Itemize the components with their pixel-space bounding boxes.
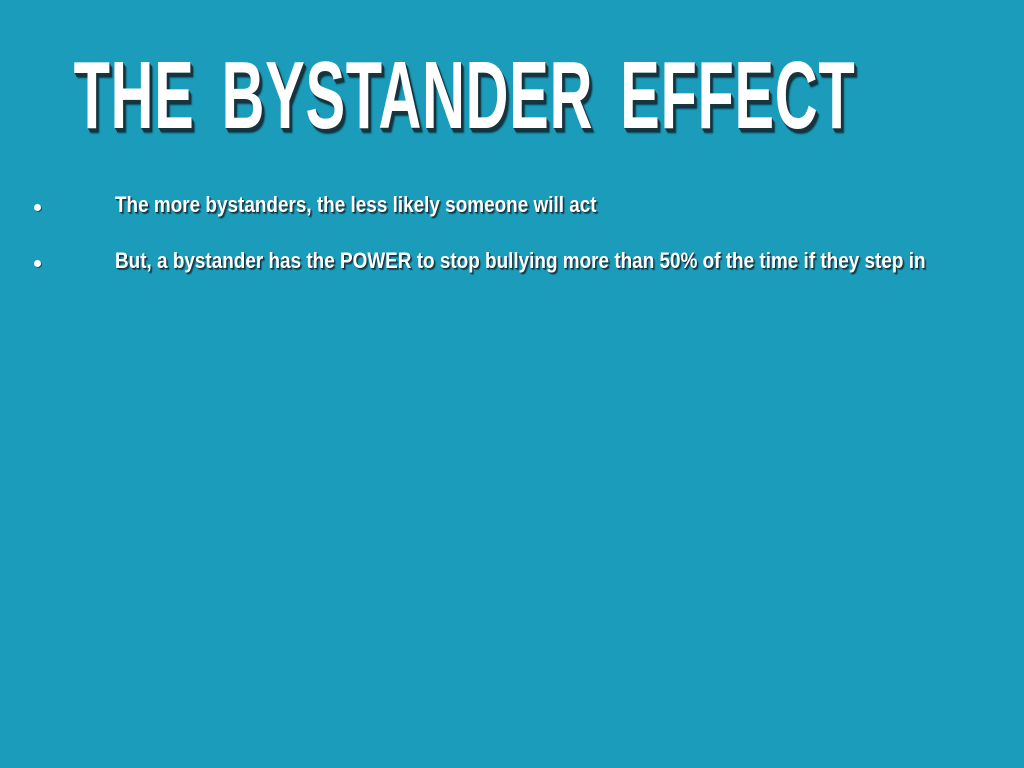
page-title: THE BYSTANDER EFFECT xyxy=(73,48,855,144)
list-item-label: The more bystanders, the less likely som… xyxy=(115,192,897,218)
list-item: But, a bystander has the POWER to stop b… xyxy=(0,248,1024,276)
slide-title-container: THE BYSTANDER EFFECT xyxy=(0,44,1024,148)
presentation-slide: THE BYSTANDER EFFECT The more bystanders… xyxy=(0,0,1024,768)
bullet-list: The more bystanders, the less likely som… xyxy=(0,192,1024,304)
bullet-dot-icon xyxy=(34,204,41,211)
list-item-label: But, a bystander has the POWER to stop b… xyxy=(115,248,897,274)
list-item: The more bystanders, the less likely som… xyxy=(0,192,1024,220)
bullet-dot-icon xyxy=(34,260,41,267)
